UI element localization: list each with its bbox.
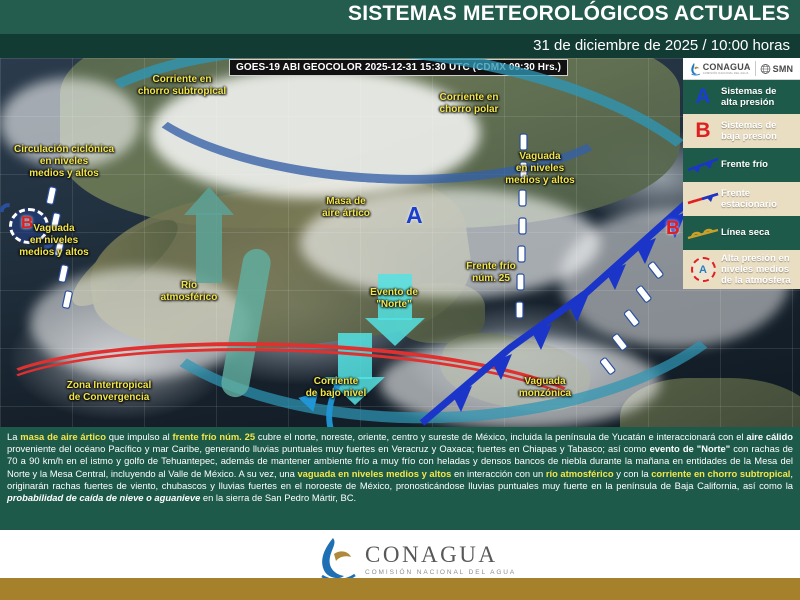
summary-paragraph: La masa de aire ártico que impulso al fr…: [7, 431, 793, 504]
s-hl-corriente-chorro: corriente en chorro subtropical: [651, 468, 790, 479]
s-f: en interacción con un: [451, 468, 545, 479]
map-label-corriente-bajo-nivel: Corriente de bajo nivel: [290, 376, 382, 400]
map-label-frente-frio-25: Frente frío núm. 25: [450, 261, 532, 285]
bulletin-datetime: 31 de diciembre de 2025 / 10:00 horas: [533, 37, 790, 54]
header-title-bar: SISTEMAS METEOROLÓGICOS ACTUALES: [0, 0, 800, 34]
legend-label-baja-presion: Sistemas de baja presión: [721, 120, 777, 142]
s-it-nieve-aguanieve: probabilidad de caída de nieve o aguanie…: [7, 492, 200, 503]
map-label-vaguada-monzonica: Vaguada monzónica: [505, 376, 585, 400]
high-pressure-icon: A: [685, 84, 721, 110]
legend-panel: CONAGUA COMISIÓN NACIONAL DEL AGUA SMN A…: [683, 58, 800, 289]
legend-label-alta-presion: Sistemas de alta presión: [721, 86, 776, 108]
page-title: SISTEMAS METEOROLÓGICOS ACTUALES: [348, 2, 790, 26]
legend-item-alta-presion-niveles-medios[interactable]: A Alta presión en niveles medios de la a…: [683, 250, 800, 289]
conagua-logo-subtext: COMISIÓN NACIONAL DEL AGUA: [703, 72, 751, 75]
map-label-vaguada-este: Vaguada en niveles medios y altos: [490, 151, 590, 186]
trough-line-caribbean: [600, 258, 680, 398]
upper-high-pressure-icon: A: [685, 257, 721, 283]
s-b: que impulso al: [106, 431, 173, 442]
legend-logo-divider: [755, 61, 756, 76]
legend-label-alta-presion-niveles-medios: Alta presión en niveles medios de la atm…: [721, 253, 791, 286]
map-label-evento-norte: Evento de "Norte": [353, 287, 435, 311]
legend-item-frente-frio[interactable]: Frente frío: [683, 148, 800, 182]
conagua-logo-small: CONAGUA COMISIÓN NACIONAL DEL AGUA: [690, 62, 751, 76]
conagua-footer-logo: CONAGUA COMISIÓN NACIONAL DEL AGUA: [318, 536, 516, 582]
s-hl-vaguada: vaguada en niveles medios y altos: [297, 468, 451, 479]
map-label-circulacion-ciclonica: Circulación ciclónica en niveles medios …: [4, 144, 124, 179]
legend-label-frente-estacionario: Frente estacionario: [721, 188, 777, 210]
s-hl-rio-atmosferico: río atmosférico: [546, 468, 614, 479]
legend-item-alta-presion[interactable]: A Sistemas de alta presión: [683, 80, 800, 114]
stationary-front-icon: [685, 186, 721, 212]
s-bd-aire-calido: aire cálido: [746, 431, 793, 442]
s-a: La: [7, 431, 20, 442]
conagua-logo-text: CONAGUA: [703, 62, 751, 72]
map-label-vaguada-oeste: Vaguada en niveles medios y altos: [6, 223, 102, 258]
map-label-corriente-chorro-polar: Corriente en chorro polar: [416, 92, 522, 116]
weather-bulletin-page: SISTEMAS METEOROLÓGICOS ACTUALES 31 de d…: [0, 0, 800, 600]
smn-logo-text: SMN: [773, 64, 794, 74]
low-pressure-icon: B: [685, 118, 721, 144]
legend-logos: CONAGUA COMISIÓN NACIONAL DEL AGUA SMN: [683, 58, 800, 80]
conagua-water-icon: [690, 62, 701, 76]
map-label-corriente-chorro-subtropical: Corriente en chorro subtropical: [122, 74, 242, 98]
legend-item-frente-estacionario[interactable]: Frente estacionario: [683, 182, 800, 216]
s-g: y con la: [614, 468, 652, 479]
footer-tagline: COMISIÓN NACIONAL DEL AGUA: [365, 569, 516, 576]
s-d: proveniente del océano Pacífico y mar Ca…: [7, 443, 650, 454]
legend-item-linea-seca[interactable]: Línea seca: [683, 216, 800, 250]
footer: CONAGUA COMISIÓN NACIONAL DEL AGUA: [0, 530, 800, 600]
footer-gold-bar: [0, 578, 800, 600]
s-bd-evento-norte: evento de "Norte": [650, 443, 731, 454]
dry-line-icon: [685, 220, 721, 246]
satellite-map[interactable]: GOES-19 ABI GEOCOLOR 2025-12-31 15:30 UT…: [0, 58, 800, 427]
map-label-masa-aire-artico: Masa de aire ártico: [305, 196, 387, 220]
legend-item-baja-presion[interactable]: B Sistemas de baja presión: [683, 114, 800, 148]
conagua-logo-icon: [318, 536, 358, 582]
map-label-rio-atmosferico: Río atmosférico: [152, 280, 226, 304]
s-hl-masa-aire-artico: masa de aire ártico: [20, 431, 106, 442]
s-c: cubre el norte, noreste, oriente, centro…: [255, 431, 746, 442]
cold-front-icon: [685, 152, 721, 178]
arctic-air-arrow: [196, 213, 222, 283]
header-date-bar: 31 de diciembre de 2025 / 10:00 horas: [0, 34, 800, 58]
high-pressure-marker-a: A: [406, 202, 423, 229]
smn-logo-small: SMN: [760, 62, 794, 76]
low-pressure-marker-caribe: B: [666, 218, 680, 240]
summary-panel: La masa de aire ártico que impulso al fr…: [0, 427, 800, 530]
map-label-zona-intertropical: Zona Intertropical de Convergencia: [48, 380, 170, 404]
s-i: en la sierra de San Pedro Mártir, BC.: [200, 492, 356, 503]
footer-brand: CONAGUA: [365, 542, 516, 568]
s-hl-frente-frio: frente frío núm. 25: [173, 431, 256, 442]
legend-label-linea-seca: Línea seca: [721, 227, 770, 238]
legend-label-frente-frio: Frente frío: [721, 159, 768, 170]
smn-globe-icon: [760, 62, 771, 76]
